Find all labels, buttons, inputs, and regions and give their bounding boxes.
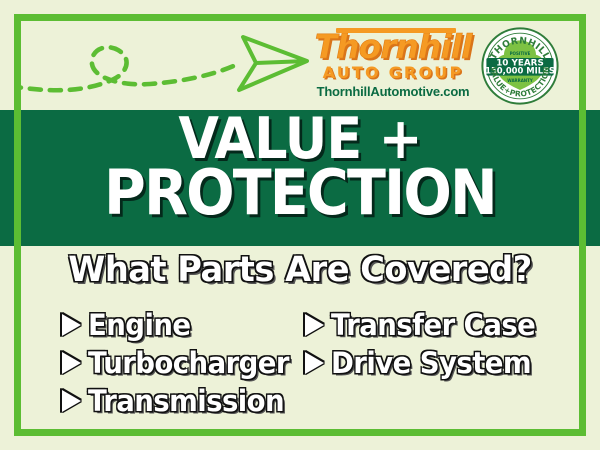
triangle-bullet-icon [62, 314, 81, 336]
warranty-seal-badge-icon: POSITIVE WARRANTY 10 YEARS 150,000 MILES… [480, 26, 560, 106]
coverage-question: What Parts Are Covered? [12, 250, 588, 290]
dashed-path-arrow-icon [20, 18, 310, 104]
ad-header: Thornhill AUTO GROUP ThornhillAutomotive… [0, 0, 600, 110]
part-label: Transfer Case [331, 311, 535, 340]
list-item: Transfer Case [305, 306, 565, 344]
logo-overbar [336, 28, 456, 33]
part-label: Turbocharger [88, 349, 289, 378]
thornhill-logo: Thornhill AUTO GROUP ThornhillAutomotive… [312, 24, 474, 98]
list-item: Drive System [305, 344, 565, 382]
list-item: Turbocharger [62, 344, 312, 382]
title-line-2: PROTECTION [24, 163, 576, 223]
list-item: Engine [62, 306, 312, 344]
part-label: Transmission [88, 387, 284, 416]
logo-website-url: ThornhillAutomotive.com [312, 85, 474, 98]
part-label: Engine [88, 311, 190, 340]
logo-wordmark: Thornhill [312, 30, 474, 63]
triangle-bullet-icon [305, 352, 324, 374]
triangle-bullet-icon [62, 390, 81, 412]
parts-column-left: Engine Turbocharger Transmission [62, 306, 312, 420]
part-label: Drive System [331, 349, 531, 378]
list-item: Transmission [62, 382, 312, 420]
value-protection-ad: Thornhill AUTO GROUP ThornhillAutomotive… [0, 0, 600, 450]
triangle-bullet-icon [62, 352, 81, 374]
triangle-bullet-icon [305, 314, 324, 336]
parts-column-right: Transfer Case Drive System [305, 306, 565, 382]
main-title: VALUE + PROTECTION [0, 112, 600, 222]
logo-subtitle: AUTO GROUP [312, 65, 474, 81]
seal-small-bottom: WARRANTY [507, 78, 533, 83]
seal-small-top: POSITIVE [510, 51, 531, 56]
covered-parts-list: Engine Turbocharger Transmission Transfe… [0, 306, 600, 426]
